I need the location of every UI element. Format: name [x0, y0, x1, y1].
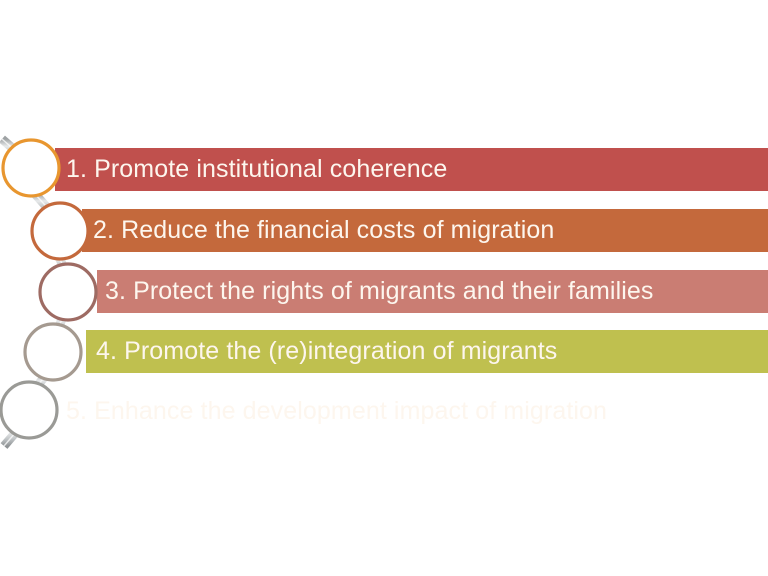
chain-link-top-stub — [2, 139, 26, 160]
chain-link-2-3 — [57, 253, 66, 272]
chain-circle-4[interactable] — [25, 324, 81, 380]
item-bar-5[interactable]: 5. Enhance the development impact of mig… — [56, 390, 768, 433]
item-label-3: 3. Protect the rights of migrants and th… — [97, 279, 654, 304]
chain-circle-1[interactable] — [3, 140, 59, 196]
chain-link-1-2 — [35, 194, 53, 214]
chain-link-4-5 — [32, 374, 47, 392]
item-label-5: 5. Enhance the development impact of mig… — [56, 399, 607, 424]
item-bar-2[interactable]: 2. Reduce the financial costs of migrati… — [82, 209, 768, 252]
item-label-4: 4. Promote the (re)integration of migran… — [86, 339, 557, 364]
item-label-1: 1. Promote institutional coherence — [55, 157, 447, 182]
chain-circle-5[interactable] — [1, 382, 57, 438]
chain-link-3-4 — [56, 314, 64, 334]
item-bar-4[interactable]: 4. Promote the (re)integration of migran… — [86, 330, 768, 373]
chain-circle-3[interactable] — [40, 264, 96, 320]
item-bar-1[interactable]: 1. Promote institutional coherence — [55, 148, 768, 191]
chain-infographic: 1. Promote institutional coherence 2. Re… — [0, 0, 768, 576]
item-label-2: 2. Reduce the financial costs of migrati… — [82, 218, 554, 243]
chain-circle-2[interactable] — [32, 203, 88, 259]
chain-link-bottom-stub — [4, 425, 22, 446]
item-bar-3[interactable]: 3. Protect the rights of migrants and th… — [97, 270, 768, 313]
